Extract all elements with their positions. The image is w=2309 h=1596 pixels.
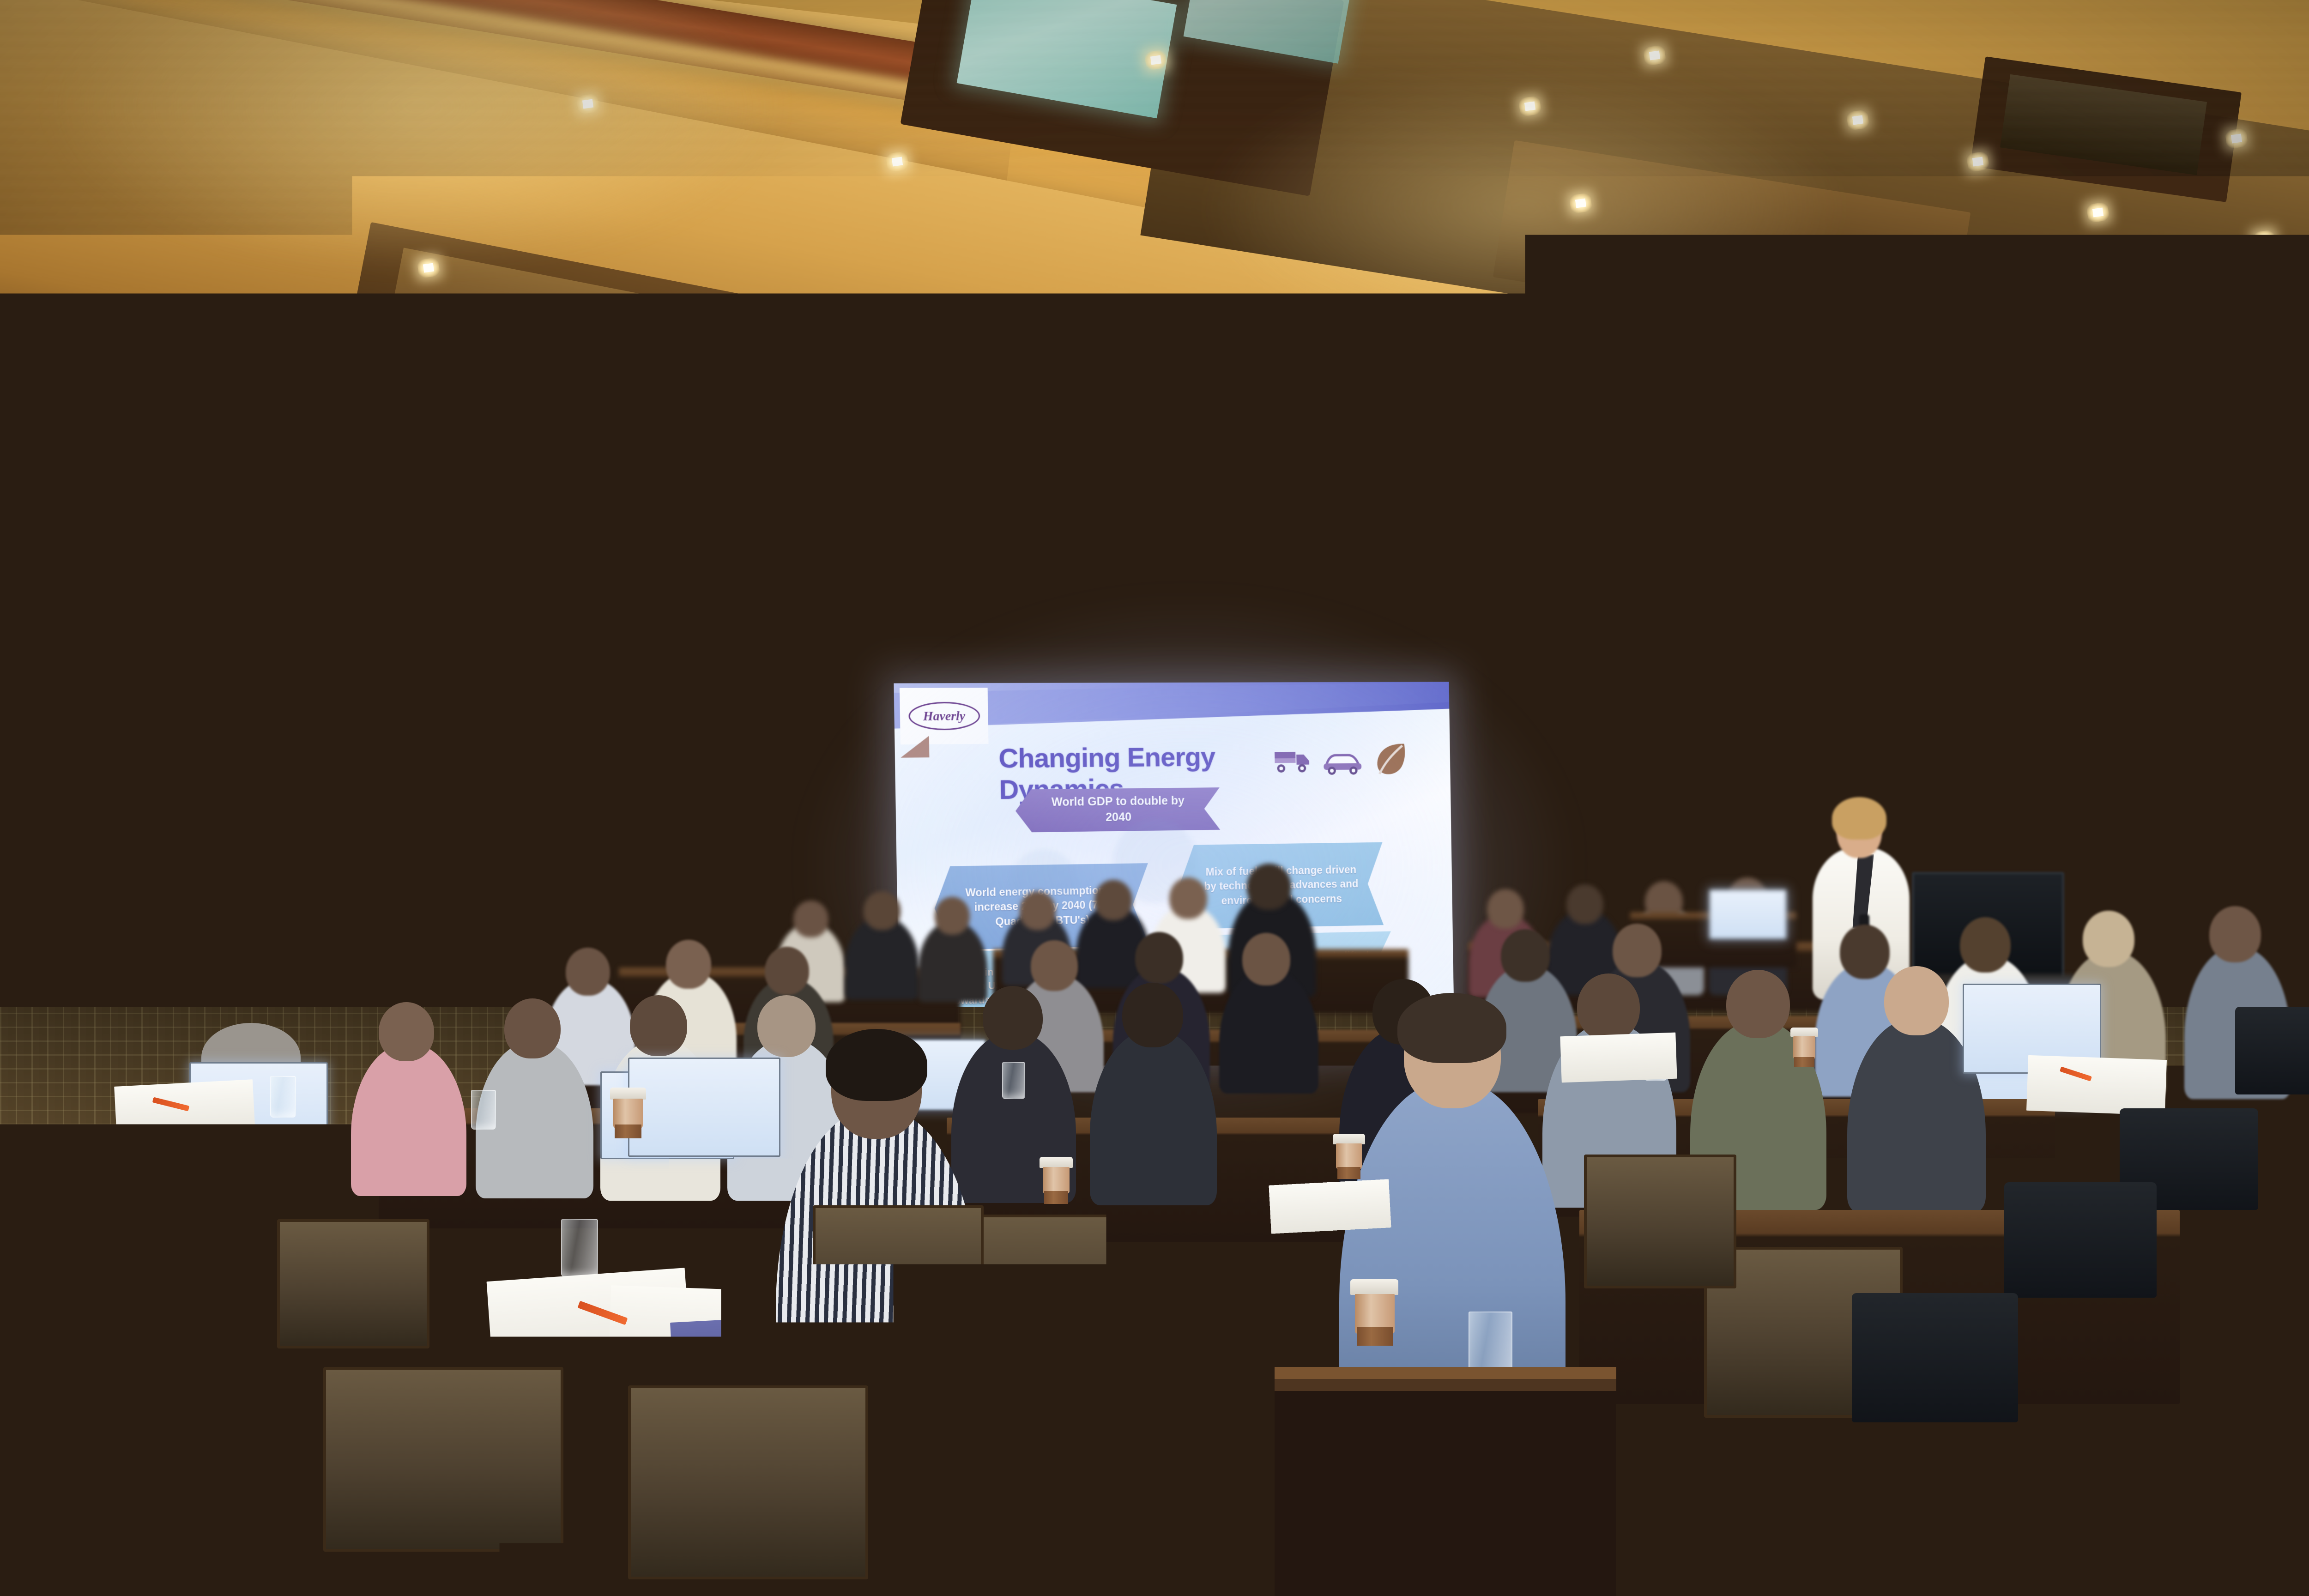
audience-head [765, 947, 809, 995]
presenter-hair [1832, 797, 1886, 840]
audience-hair [1397, 993, 1506, 1063]
audience-head [566, 948, 610, 996]
wall-sconce-stem-right [2291, 767, 2300, 859]
paper-sheet [2026, 1055, 2167, 1115]
downlight-19 [2224, 128, 2248, 149]
chair [1584, 1155, 1736, 1288]
paper-sheet [1269, 1179, 1391, 1233]
audience-head [1884, 966, 1949, 1035]
table-foreground-right [1275, 1367, 1616, 1596]
coffee-cup [1353, 1279, 1396, 1348]
coffee-cup [612, 1088, 644, 1139]
audience-head [1020, 891, 1056, 930]
paper-sheet [1560, 1033, 1677, 1083]
laptop-bag [1852, 1293, 2018, 1422]
audience-head [864, 891, 901, 930]
art-cell [176, 772, 204, 901]
water-glass [561, 1219, 598, 1277]
truck-icon [1274, 747, 1313, 776]
ceiling-ambient-glow-1 [46, 0, 785, 268]
downlight-1 [576, 93, 599, 115]
audience-head [935, 897, 970, 935]
laptop-bag [2004, 1182, 2157, 1298]
laptop-bag [2235, 1007, 2309, 1094]
downlight-8 [1105, 303, 1128, 325]
downlight-5 [285, 331, 308, 352]
audience-head [1094, 880, 1132, 920]
audience-hair [826, 1029, 927, 1101]
downlight-14 [1643, 45, 1666, 66]
coffee-cup [1335, 1134, 1363, 1180]
table-foreground-left [406, 1321, 868, 1596]
downlight-13 [1518, 96, 1541, 117]
water-glass [185, 1141, 216, 1191]
exit-sign: EXIT [267, 694, 315, 722]
downlight-3 [1144, 49, 1167, 71]
water-glass [471, 1090, 496, 1130]
water-glass [1002, 1062, 1025, 1099]
audience-head [1247, 864, 1291, 910]
car-icon [1322, 750, 1363, 776]
coffee-cup [1041, 1157, 1071, 1205]
conference-room-photo: EXIT [0, 0, 2309, 1596]
audience-head [379, 1002, 434, 1061]
audience-head [1960, 917, 2011, 973]
audience-head [630, 995, 687, 1056]
audience-head [1031, 940, 1078, 991]
audience-head [2083, 911, 2134, 967]
audience-head [1613, 924, 1662, 977]
downlight-20 [2086, 202, 2110, 223]
downlight-4 [417, 257, 440, 278]
audience-head [2093, 861, 2134, 906]
audience-head [793, 901, 828, 937]
slide-logo-text: Haverly [923, 709, 966, 724]
leaf-icon [1373, 741, 1408, 779]
wood-pier-4 [2291, 286, 2309, 997]
audience-head [666, 940, 711, 989]
downlight-7 [737, 363, 761, 385]
audience-head [757, 995, 816, 1057]
downlight-22 [1384, 442, 1408, 463]
audience-head [1577, 973, 1640, 1041]
door-closer-bar-right [319, 757, 402, 769]
downlight-2 [885, 151, 909, 172]
downlight-21 [2252, 230, 2276, 251]
audience-head [1169, 877, 1207, 919]
audience-head [1566, 884, 1603, 924]
audience-head [2209, 906, 2261, 962]
downlight-18 [1966, 151, 1989, 172]
water-glass [270, 1076, 296, 1118]
exit-sign-label: EXIT [268, 698, 314, 719]
downlight-17 [1846, 109, 1869, 131]
av-laptop [1709, 889, 1787, 940]
audience-head [983, 986, 1043, 1050]
laptop [628, 1058, 780, 1157]
audience-head [1840, 925, 1890, 979]
coffee-cup [1792, 1028, 1817, 1068]
audience-head [1726, 970, 1790, 1038]
audience-head [504, 998, 561, 1058]
slide-logo-box: Haverly [900, 688, 989, 744]
audience-head [1135, 932, 1183, 984]
audience-head [1122, 983, 1183, 1047]
art-cell [204, 772, 231, 901]
audience-head [1487, 889, 1524, 929]
downlight-23 [1264, 465, 1287, 486]
artwork-panel [176, 772, 285, 1031]
slide-logo-oval: Haverly [908, 702, 980, 731]
audience-head [1242, 933, 1290, 985]
downlight-15 [1569, 193, 1592, 214]
downlight-6 [158, 396, 181, 417]
downlight-16 [1698, 276, 1722, 297]
art-cell [258, 772, 285, 901]
art-cell [231, 772, 258, 901]
door-closer-bar-left [175, 757, 267, 769]
audience-head [1501, 929, 1550, 982]
downlight-12 [973, 437, 997, 459]
